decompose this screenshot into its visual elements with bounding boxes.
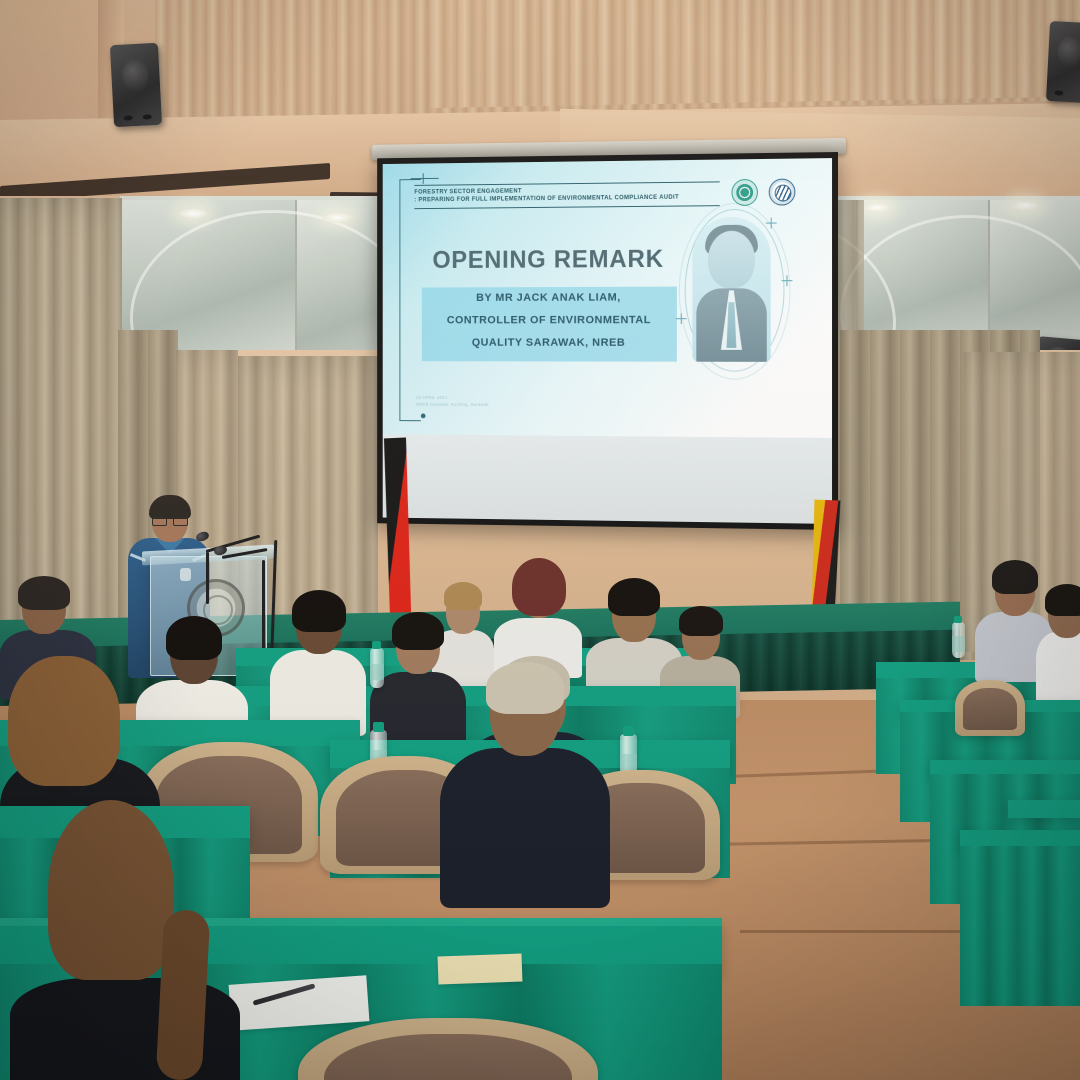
wall-speaker-left bbox=[110, 43, 162, 127]
downlight bbox=[322, 212, 352, 223]
sparkle-icon bbox=[769, 221, 774, 226]
attendee-foreground-2 bbox=[440, 664, 610, 904]
slide-footer: 22 APRIL 2024 NREB Sarawak, Kuching, Sar… bbox=[416, 394, 489, 408]
microphone-stand bbox=[206, 552, 209, 604]
downlight bbox=[862, 202, 892, 213]
projection-screen: FORESTRY SECTOR ENGAGEMENT : PREPARING F… bbox=[377, 140, 838, 530]
slide-subtitle-band: BY MR JACK ANAK LIAM, CONTROLLER OF ENVI… bbox=[422, 287, 677, 362]
slide-footer-line-2: NREB Sarawak, Kuching, Sarawak bbox=[416, 401, 489, 408]
slide-corner-frame bbox=[399, 179, 420, 421]
slide-subtitle-line-1: BY MR JACK ANAK LIAM, bbox=[422, 287, 677, 310]
wall-speaker-right bbox=[1046, 21, 1080, 103]
water-bottle bbox=[952, 622, 965, 658]
slide-subtitle-line-3: QUALITY SARAWAK, NREB bbox=[422, 332, 677, 355]
nreb-environmental-logo-icon bbox=[731, 179, 757, 206]
attendee bbox=[1036, 586, 1080, 706]
frame-dot bbox=[421, 413, 426, 418]
screen-blank-area bbox=[383, 434, 832, 523]
speaker-portrait bbox=[692, 217, 770, 362]
slide-title: OPENING REMARK bbox=[420, 245, 677, 275]
sparkle-icon bbox=[785, 278, 790, 283]
presenter-hair bbox=[149, 495, 191, 519]
frame-tick bbox=[423, 173, 424, 184]
attendee bbox=[270, 592, 366, 732]
conference-hall-photo: FORESTRY SECTOR ENGAGEMENT : PREPARING F… bbox=[0, 0, 1080, 1080]
ribbed-ceiling-panel-right bbox=[430, 0, 1080, 108]
table-drape bbox=[960, 846, 1080, 1006]
presentation-slide: FORESTRY SECTOR ENGAGEMENT : PREPARING F… bbox=[383, 158, 832, 438]
frame-tick bbox=[411, 178, 439, 179]
name-card bbox=[438, 954, 523, 985]
water-bottle bbox=[370, 648, 384, 688]
sarawak-government-logo-icon bbox=[769, 179, 796, 206]
attendee-foreground-4 bbox=[10, 800, 240, 1080]
slide-header: FORESTRY SECTOR ENGAGEMENT : PREPARING F… bbox=[414, 181, 719, 209]
table-row-right-5 bbox=[1008, 800, 1080, 818]
slide-subtitle-line-2: CONTROLLER OF ENVIRONMENTAL bbox=[422, 309, 677, 332]
paper-sheet bbox=[229, 975, 370, 1031]
downlight bbox=[178, 208, 208, 219]
downlight bbox=[1010, 200, 1040, 211]
sparkle-icon bbox=[679, 316, 684, 321]
eyeglasses-icon bbox=[152, 517, 188, 524]
